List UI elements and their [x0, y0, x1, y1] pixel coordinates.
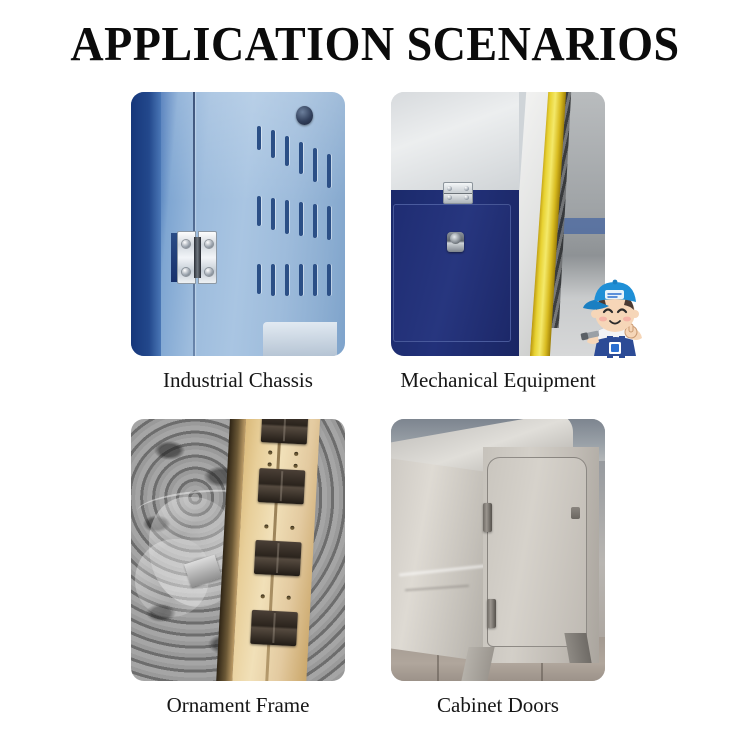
scenario-caption-cabinet-doors: Cabinet Doors [370, 693, 626, 718]
vent-slot [257, 264, 261, 294]
vent-slot [257, 126, 261, 150]
cabinet-door-handle [571, 507, 580, 519]
frame-hinge [261, 419, 309, 444]
screw-hole [290, 526, 294, 530]
cabinet-door-hinge [487, 599, 496, 628]
wooden-frame [231, 419, 320, 681]
screw-hole [287, 596, 291, 600]
vent-slot [271, 198, 275, 230]
scenario-image-mechanical-equipment [391, 92, 605, 356]
scenario-caption-mechanical-equipment: Mechanical Equipment [370, 368, 626, 393]
hinge-screw [182, 268, 190, 276]
chassis-knob [296, 106, 313, 125]
cabinet-lock-knob [447, 232, 464, 252]
vent-slot [285, 264, 289, 296]
page-title: APPLICATION SCENARIOS [23, 18, 728, 69]
screw-hole [294, 452, 298, 456]
vent-slot [313, 264, 317, 296]
chrome-hinge [177, 231, 217, 284]
frame-hinge [258, 468, 306, 504]
scenario-image-ornament-frame [131, 419, 345, 681]
screw-hole [268, 450, 272, 454]
hinge-screw [464, 186, 469, 191]
vent-slot [327, 206, 331, 240]
scenario-card-industrial-chassis[interactable]: Industrial Chassis [110, 92, 366, 393]
hinge-screw [205, 240, 213, 248]
scenario-card-ornament-frame[interactable]: Ornament Frame [110, 419, 366, 718]
vent-slot [327, 154, 331, 188]
hinge-screw [447, 195, 452, 200]
cabinet-navy-door [393, 204, 511, 342]
hinge-screw [205, 268, 213, 276]
vent-slot [285, 200, 289, 234]
vent-slot [299, 264, 303, 296]
vent-slot [327, 264, 331, 296]
chassis-label-plate [263, 322, 337, 356]
scenario-card-cabinet-doors[interactable]: Cabinet Doors [370, 419, 626, 718]
hinge-screw [447, 186, 452, 191]
scenario-image-cabinet-doors [391, 419, 605, 681]
vent-slot [257, 196, 261, 226]
screw-hole [293, 464, 297, 468]
hinge-screw [464, 195, 469, 200]
scenario-image-industrial-chassis [131, 92, 345, 356]
vent-slot [299, 142, 303, 174]
vent-slot [271, 130, 275, 158]
cabinet-door-hinge [483, 503, 492, 532]
vent-slot [285, 136, 289, 166]
worker-mascot [579, 266, 651, 358]
vent-slot [313, 204, 317, 238]
frame-hinge [250, 610, 298, 646]
scenario-grid: Industrial Chassis [0, 92, 750, 746]
cabinet-left-side [391, 458, 489, 663]
screw-hole [268, 462, 272, 466]
hinge-screw [182, 240, 190, 248]
vent-slot [299, 202, 303, 236]
scenario-caption-industrial-chassis: Industrial Chassis [110, 368, 366, 393]
cabinet-hinge [443, 182, 473, 204]
chassis-edge [131, 92, 161, 356]
frame-hinge [254, 540, 302, 576]
scenario-row-2: Ornament Frame [0, 419, 750, 746]
vent-slot [271, 264, 275, 296]
chassis-door-seam [193, 92, 195, 356]
screw-hole [264, 524, 268, 528]
hinge-knuckle [194, 237, 201, 278]
application-scenarios-page: APPLICATION SCENARIOS [0, 0, 750, 750]
cabinet-door-panel [487, 457, 587, 647]
scenario-caption-ornament-frame: Ornament Frame [110, 693, 366, 718]
screw-hole [261, 594, 265, 598]
cabinet-top-panel [391, 92, 519, 192]
vent-slot [313, 148, 317, 182]
scenario-row-1: Industrial Chassis [0, 92, 750, 419]
